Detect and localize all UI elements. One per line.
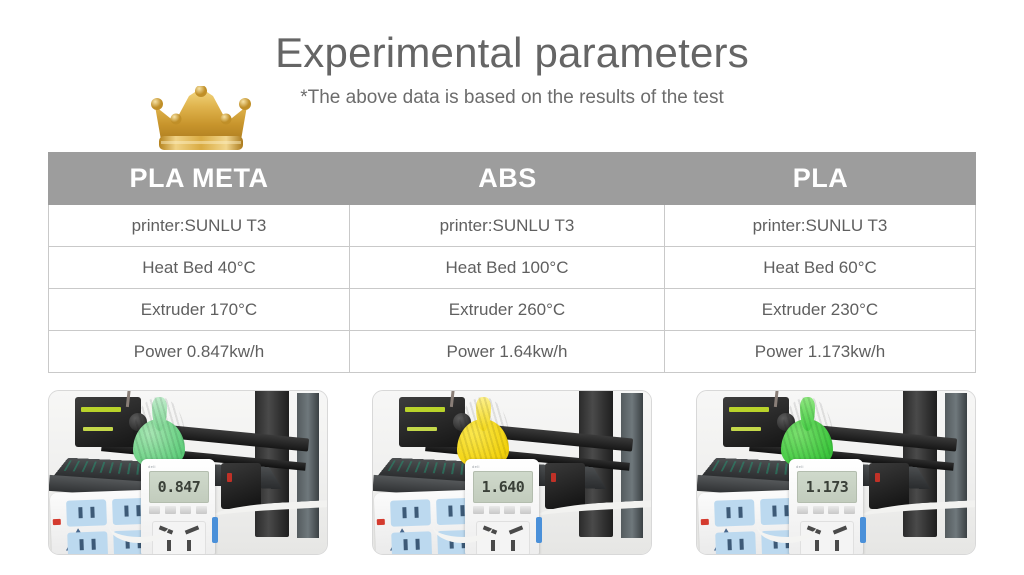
parameters-table: PLA META ABS PLA printer:SUNLU T3 printe… bbox=[48, 152, 976, 373]
meter-reading-value: 1.173 bbox=[806, 478, 849, 496]
meter-lcd-display: 1.173 bbox=[797, 471, 857, 503]
table-header-row: PLA META ABS PLA bbox=[48, 152, 976, 205]
cell-heatbed-abs: Heat Bed 100°C bbox=[350, 247, 665, 288]
power-cord bbox=[757, 509, 817, 543]
crown-icon bbox=[151, 86, 251, 154]
cell-power-abs: Power 1.64kw/h bbox=[350, 331, 665, 372]
column-header-abs: ABS bbox=[350, 152, 665, 205]
photo-pla: deli 1.173 bbox=[696, 390, 976, 555]
meter-brand-label: deli bbox=[796, 464, 804, 469]
meter-lcd-display: 0.847 bbox=[149, 471, 209, 503]
power-strip-switch[interactable] bbox=[701, 519, 709, 525]
printer-motor bbox=[869, 463, 909, 509]
cell-heatbed-pla: Heat Bed 60°C bbox=[665, 247, 975, 288]
photo-gallery: deli 0.847 bbox=[48, 390, 976, 555]
meter-button[interactable] bbox=[844, 506, 855, 514]
hotend-label-stripe bbox=[405, 407, 445, 412]
power-cord bbox=[433, 509, 493, 543]
cell-extruder-abs: Extruder 260°C bbox=[350, 289, 665, 330]
meter-reading-value: 0.847 bbox=[158, 478, 201, 496]
cell-printer-abs: printer:SUNLU T3 bbox=[350, 205, 665, 246]
hotend-label-stripe-2 bbox=[83, 427, 113, 431]
table-row: Power 0.847kw/h Power 1.64kw/h Power 1.1… bbox=[49, 331, 975, 372]
hotend-label-stripe bbox=[81, 407, 121, 412]
meter-button[interactable] bbox=[828, 506, 839, 514]
power-cord bbox=[109, 509, 169, 543]
meter-side-accent bbox=[536, 517, 542, 543]
printer-motor bbox=[221, 463, 261, 509]
printer-scene: deli 0.847 bbox=[49, 391, 327, 554]
power-strip-outlet bbox=[714, 499, 755, 526]
photo-pla-meta: deli 0.847 bbox=[48, 390, 328, 555]
meter-side-accent bbox=[212, 517, 218, 543]
motor-indicator bbox=[227, 473, 232, 482]
meter-button[interactable] bbox=[520, 506, 531, 514]
column-header-pla: PLA bbox=[665, 152, 976, 205]
cell-printer-pla: printer:SUNLU T3 bbox=[665, 205, 975, 246]
hotend-label-stripe-2 bbox=[731, 427, 761, 431]
power-strip-outlet bbox=[390, 499, 431, 526]
power-strip-switch[interactable] bbox=[53, 519, 61, 525]
meter-button[interactable] bbox=[504, 506, 515, 514]
cell-extruder-pla-meta: Extruder 170°C bbox=[49, 289, 350, 330]
cell-printer-pla-meta: printer:SUNLU T3 bbox=[49, 205, 350, 246]
hotend-label-stripe-2 bbox=[407, 427, 437, 431]
meter-side-accent bbox=[860, 517, 866, 543]
meter-reading-value: 1.640 bbox=[482, 478, 525, 496]
power-strip-outlet bbox=[391, 531, 432, 555]
meter-brand-label: deli bbox=[472, 464, 480, 469]
power-strip-outlet bbox=[66, 499, 107, 526]
table-row: Heat Bed 40°C Heat Bed 100°C Heat Bed 60… bbox=[49, 247, 975, 289]
printer-motor bbox=[545, 463, 585, 509]
cell-heatbed-pla-meta: Heat Bed 40°C bbox=[49, 247, 350, 288]
motor-indicator bbox=[551, 473, 556, 482]
column-header-pla-meta: PLA META bbox=[48, 152, 350, 205]
hotend-label-stripe bbox=[729, 407, 769, 412]
meter-lcd-display: 1.640 bbox=[473, 471, 533, 503]
cell-power-pla-meta: Power 0.847kw/h bbox=[49, 331, 350, 372]
table-row: Extruder 170°C Extruder 260°C Extruder 2… bbox=[49, 289, 975, 331]
printer-hotend bbox=[399, 397, 465, 447]
page-title: Experimental parameters bbox=[0, 30, 1024, 76]
power-strip-outlet bbox=[715, 531, 756, 555]
printer-hotend bbox=[723, 397, 789, 447]
printer-scene: deli 1.640 bbox=[373, 391, 651, 554]
meter-button[interactable] bbox=[180, 506, 191, 514]
meter-button[interactable] bbox=[196, 506, 207, 514]
motor-indicator bbox=[875, 473, 880, 482]
power-strip-switch[interactable] bbox=[377, 519, 385, 525]
power-strip-outlet bbox=[67, 531, 108, 555]
photo-abs: deli 1.640 bbox=[372, 390, 652, 555]
cell-extruder-pla: Extruder 230°C bbox=[665, 289, 975, 330]
meter-brand-label: deli bbox=[148, 464, 156, 469]
printer-hotend bbox=[75, 397, 141, 447]
table-body: printer:SUNLU T3 printer:SUNLU T3 printe… bbox=[48, 205, 976, 373]
table-row: printer:SUNLU T3 printer:SUNLU T3 printe… bbox=[49, 205, 975, 247]
cell-power-pla: Power 1.173kw/h bbox=[665, 331, 975, 372]
printer-scene: deli 1.173 bbox=[697, 391, 975, 554]
